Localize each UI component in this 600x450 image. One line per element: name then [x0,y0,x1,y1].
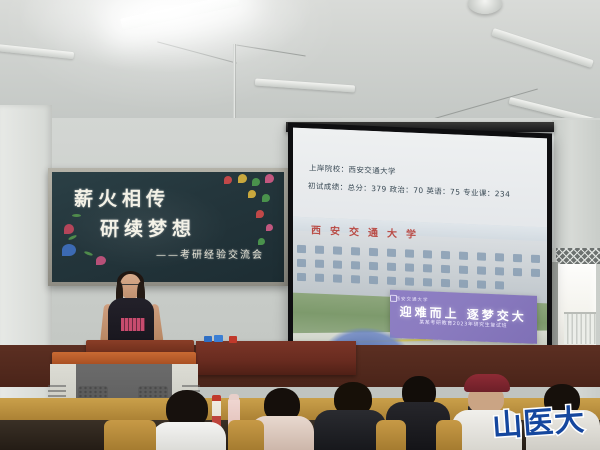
tshirt-graphic [121,318,145,331]
blackboard-headline-2: 研续梦想 [100,214,196,241]
photo-scene: 薪火相传 研续梦想 ——考研经验交流会 上岸院校：西安交通大学 [0,0,600,450]
ceiling-wire [236,45,305,57]
chalk-box-red [229,336,237,343]
slide-line-scores: 初试成绩：总分：379 政治：70 英语：75 专业课：234 [308,180,510,199]
chalk-flower-icon [265,174,274,183]
chalk-flower-icon [252,178,260,186]
slide-line-school: 上岸院校：西安交通大学 [309,162,396,177]
student-body [152,422,226,450]
chalk-flower-icon [262,194,270,202]
chalk-leaf-icon [72,214,81,217]
chalk-flower-icon [266,224,273,231]
chalk-leaf-icon [84,251,93,257]
chalk-flower-icon [238,174,247,183]
chalk-flower-icon [96,256,106,265]
ceiling-speaker [468,0,502,14]
blackboard-subtitle: ——考研经验交流会 [156,246,264,261]
ceiling-light-2-lit [120,0,240,30]
teacher-desk [196,341,356,375]
slide-photo: 西安交通大学 西安交通大学 迎难而上 逐梦交大 某某考研教育2023年研究生复试… [293,216,547,360]
projector-screen: 上岸院校：西安交通大学 初试成绩：总分：379 政治：70 英语：75 专业课：… [288,122,552,365]
ceiling-light-3 [255,79,355,93]
blackboard: 薪火相传 研续梦想 ——考研经验交流会 [48,168,288,286]
ceiling-light-4 [491,28,593,68]
ceiling-light-1 [0,44,74,59]
ceiling-wire [157,41,236,63]
chalk-flower-icon [224,176,232,184]
ceiling [0,0,600,132]
red-cap-icon [464,374,510,392]
chalk-flower-icon [62,244,76,256]
chair-back [376,420,406,450]
chalk-flower-icon [248,190,256,198]
chalk-leaf-icon [68,234,77,241]
radiator [564,312,596,344]
chalk-flower-icon [258,238,265,245]
slide-banner: 西安交通大学 迎难而上 逐梦交大 某某考研教育2023年研究生复试班 [390,290,537,344]
student-white-shirt [150,390,228,450]
chalk-flower-icon [64,224,74,234]
chalk-box-blue [214,335,223,342]
chalk-flower-icon [256,210,264,218]
watermark: 山医大 [491,395,587,445]
chair-back [228,420,264,450]
blackboard-headline-1: 薪火相传 [74,184,170,211]
chair-back [436,420,462,450]
chair-back [104,420,156,450]
lattice-grille-icon [556,248,600,264]
board-eraser-blue [204,336,212,342]
